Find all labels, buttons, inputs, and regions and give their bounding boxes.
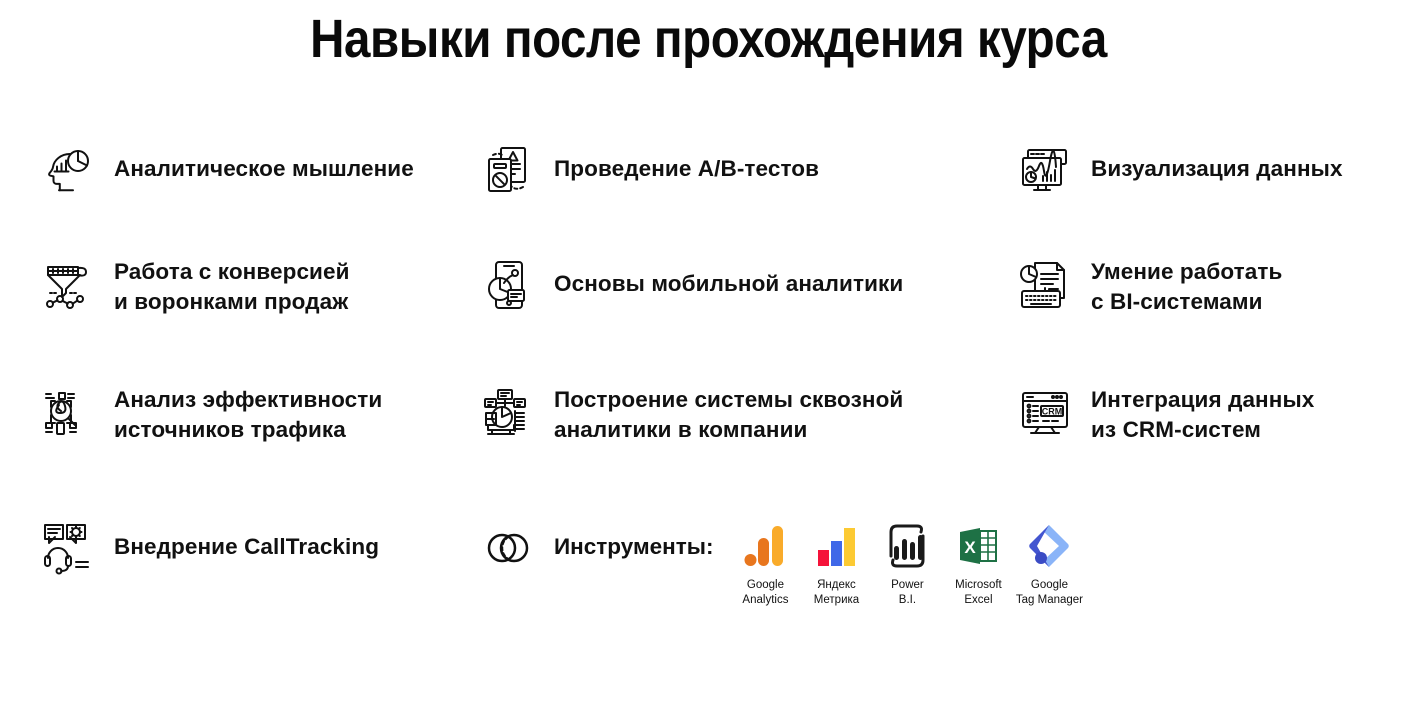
mobile-analytics-icon (478, 255, 538, 315)
skill-label: Основы мобильной аналитики (554, 255, 903, 299)
tool-label: Яндекс Метрика (814, 578, 860, 608)
skill-end-to-end-analytics: Построение системы сквозной аналитики в … (470, 383, 1000, 445)
skill-calltracking: Внедрение CallTracking (0, 518, 470, 578)
venn-diagram-icon (478, 518, 538, 578)
yandex-metrica-logo (814, 518, 858, 570)
skills-row: Анализ эффективности источников трафика (0, 383, 1417, 518)
skill-label: Визуализация данных (1091, 140, 1343, 184)
google-analytics-logo (743, 518, 787, 570)
skill-ab-testing: Проведение A/B-тестов (470, 140, 1000, 200)
tools-label: Инструменты: (554, 518, 713, 562)
dashboard-monitor-icon (1015, 140, 1075, 200)
headset-chat-icon (38, 518, 98, 578)
skill-crm-integration: CRM Интеграция данных из CRM-систем (1000, 383, 1417, 445)
tool-google-analytics[interactable]: Google Analytics (731, 518, 799, 608)
skills-row: Аналитическое мышление Проведение A/B-те… (0, 140, 1417, 255)
page-title: Навыки после прохождения курса (85, 8, 1332, 70)
google-tag-manager-logo (1026, 518, 1072, 570)
report-keyboard-icon (1015, 255, 1075, 315)
tool-label: Power B.I. (891, 578, 924, 608)
power-bi-logo (885, 518, 929, 570)
skill-label: Проведение A/B-тестов (554, 140, 819, 184)
tools-list: Google Analytics Яндекс Метрика (731, 518, 1086, 608)
skill-label: Умение работать с BI-системами (1091, 255, 1282, 317)
skill-conversion-funnels: Работа с конверсией и воронками продаж (0, 255, 470, 317)
microsoft-excel-logo: X (956, 518, 1000, 570)
skills-row: Внедрение CallTracking Инструменты: (0, 518, 1417, 638)
tool-label: Microsoft Excel (955, 578, 1002, 608)
funnel-conversion-icon (38, 255, 98, 315)
skill-label: Построение системы сквозной аналитики в … (554, 383, 903, 445)
skill-traffic-sources: Анализ эффективности источников трафика (0, 383, 470, 445)
svg-text:X: X (965, 538, 977, 557)
head-analytics-icon (38, 140, 98, 200)
tool-yandex-metrica[interactable]: Яндекс Метрика (802, 518, 870, 608)
skill-label: Анализ эффективности источников трафика (114, 383, 382, 445)
ab-test-documents-icon (478, 140, 538, 200)
svg-text:CRM: CRM (1042, 407, 1063, 417)
skill-bi-systems: Умение работать с BI-системами (1000, 255, 1417, 317)
skill-label: Интеграция данных из CRM-систем (1091, 383, 1314, 445)
skill-data-visualization: Визуализация данных (1000, 140, 1417, 200)
tool-power-bi[interactable]: Power B.I. (873, 518, 941, 608)
tool-google-tag-manager[interactable]: Google Tag Manager (1015, 518, 1083, 608)
magnifier-network-icon (38, 383, 98, 443)
skill-label: Работа с конверсией и воронками продаж (114, 255, 350, 317)
skill-mobile-analytics: Основы мобильной аналитики (470, 255, 1000, 315)
skill-label: Внедрение CallTracking (114, 518, 379, 562)
crm-monitor-icon: CRM (1015, 383, 1075, 443)
skill-label: Аналитическое мышление (114, 140, 414, 184)
system-diagram-icon (478, 383, 538, 443)
skills-grid: Аналитическое мышление Проведение A/B-те… (0, 140, 1417, 638)
tool-label: Google Tag Manager (1016, 578, 1083, 608)
tool-microsoft-excel[interactable]: X Microsoft Excel (944, 518, 1012, 608)
tool-label: Google Analytics (742, 578, 788, 608)
tools-section: Инструменты: Google Analytics (470, 518, 1415, 608)
skill-analytical-thinking: Аналитическое мышление (0, 140, 470, 200)
skills-row: Работа с конверсией и воронками продаж О… (0, 255, 1417, 383)
